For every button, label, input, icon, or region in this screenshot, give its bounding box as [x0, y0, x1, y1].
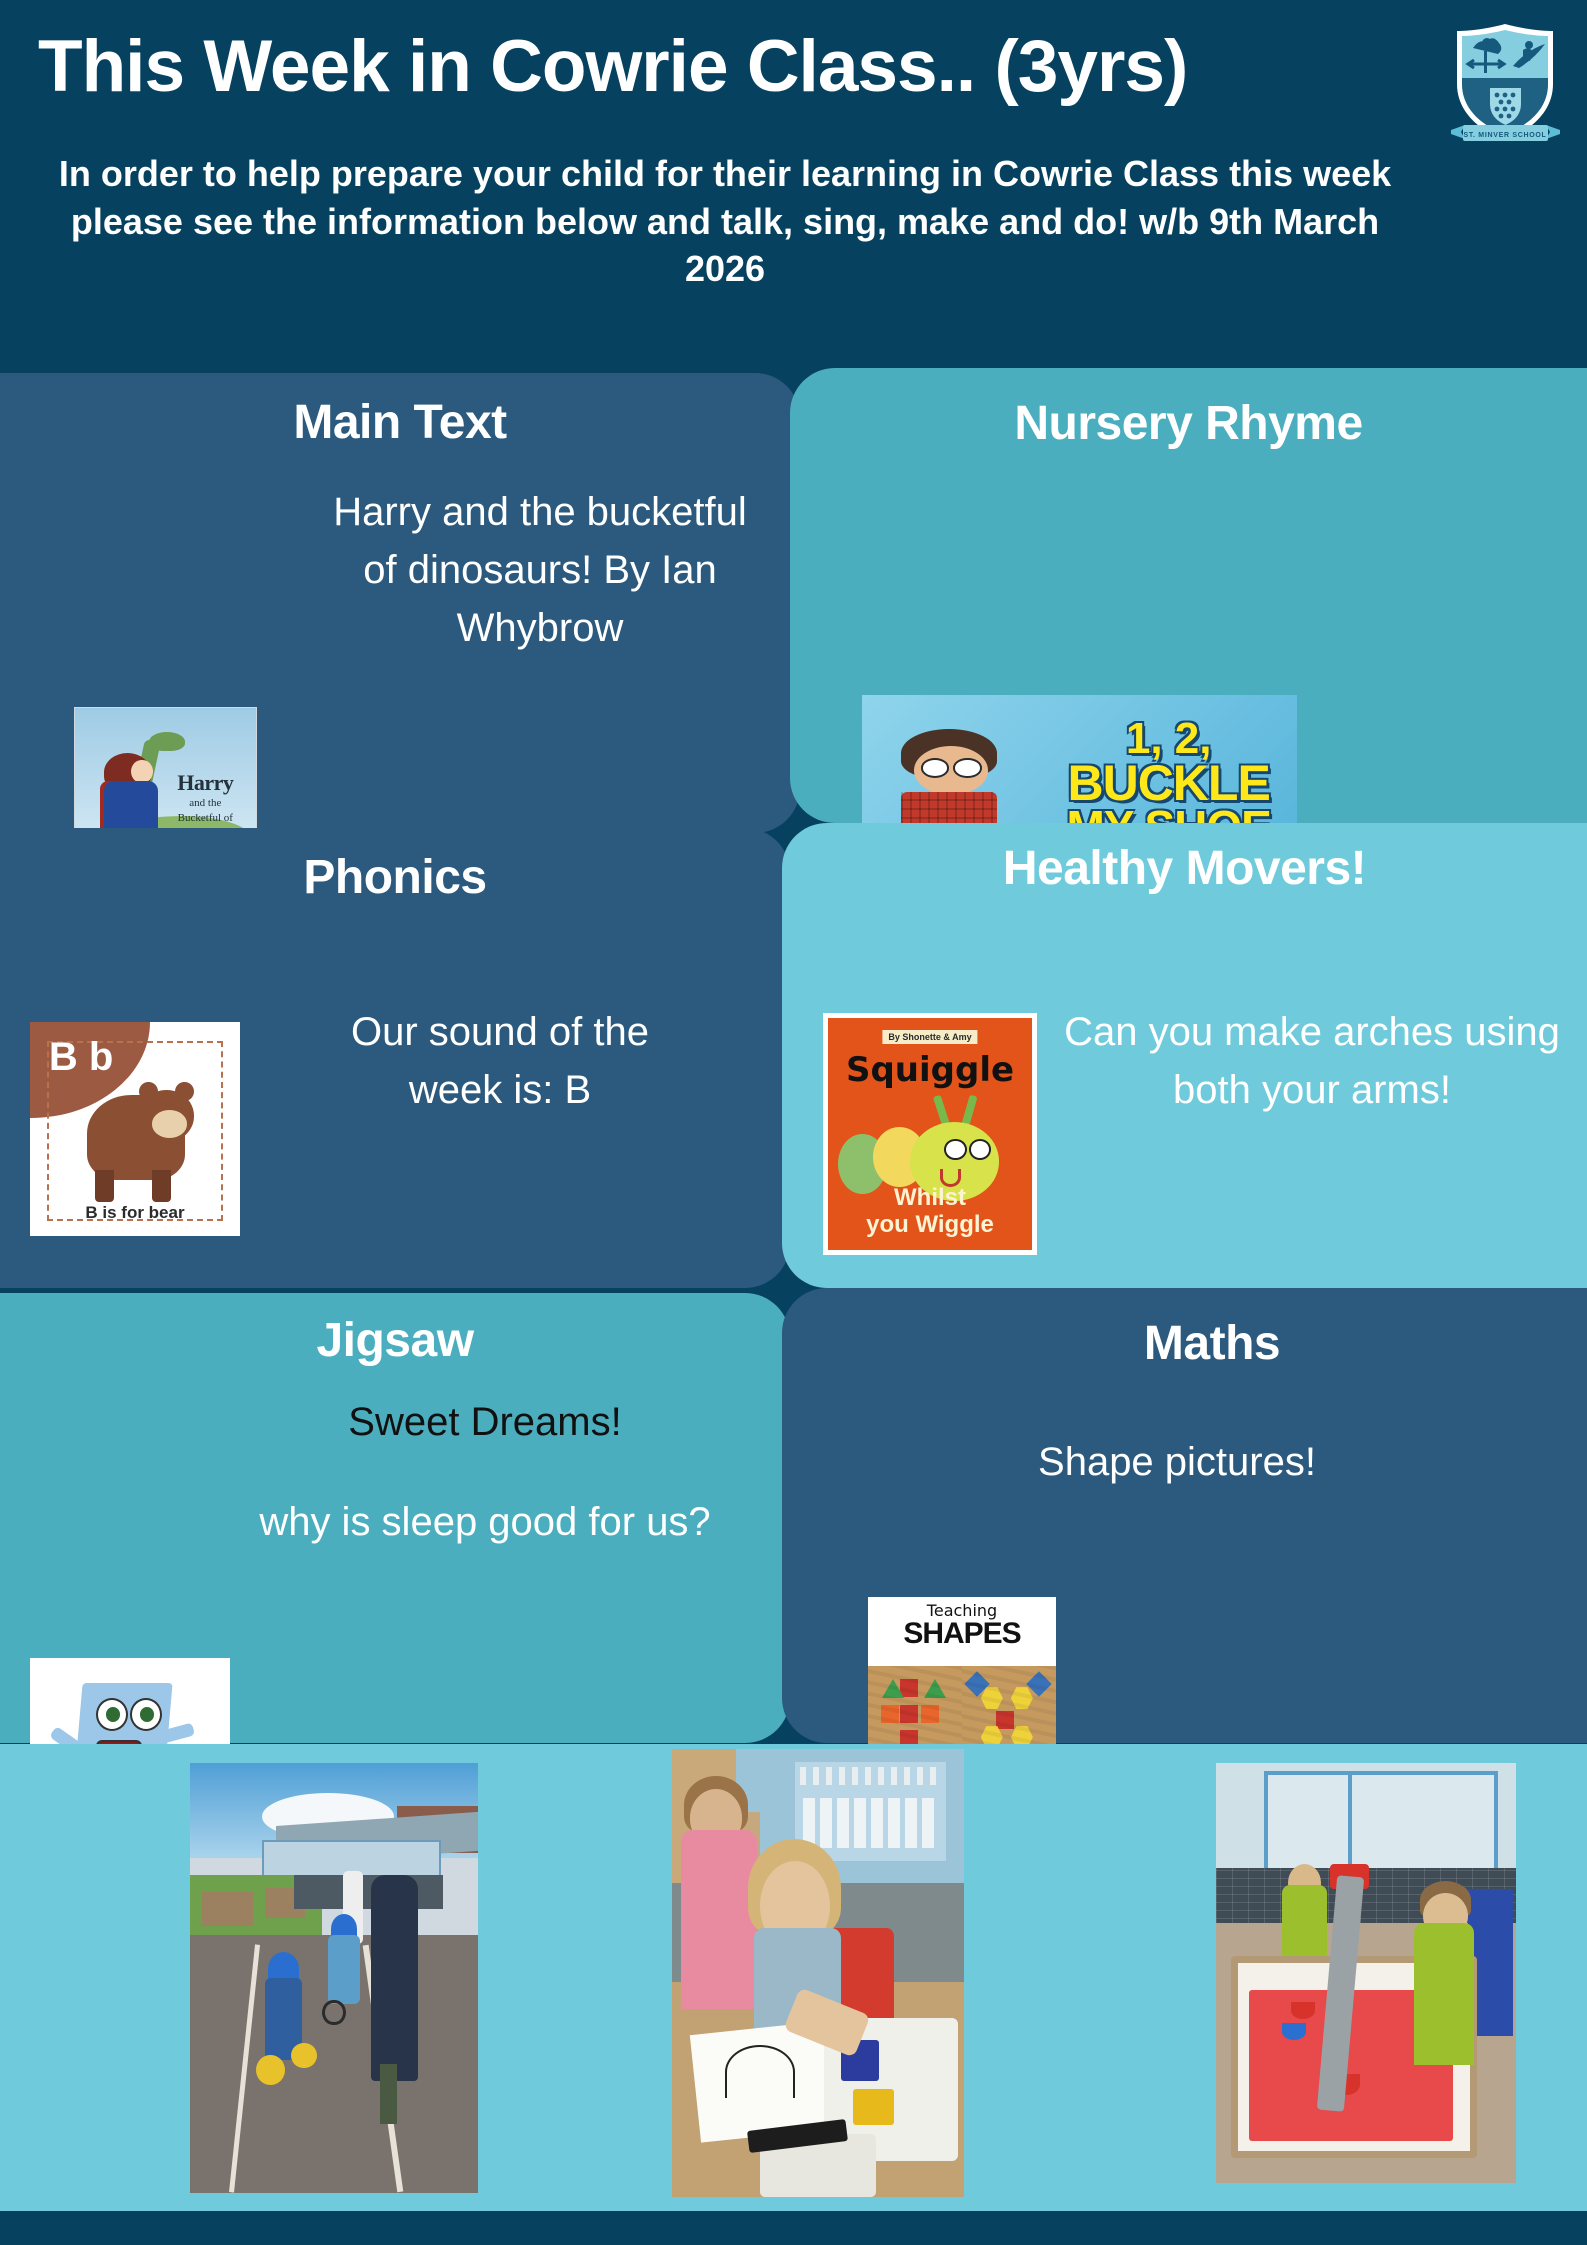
panel-body-jigsaw: why is sleep good for us?: [250, 1493, 720, 1551]
squiggle-logo: Squiggle: [846, 1050, 1014, 1090]
photo-child-painting-at-table: [672, 1749, 964, 2197]
panel-title-jigsaw: Jigsaw: [0, 1313, 790, 1368]
panel-body-jigsaw-heading: Sweet Dreams!: [270, 1393, 700, 1451]
panel-title-phonics: Phonics: [0, 850, 790, 905]
squiggle-byline: By Shonette & Amy: [882, 1030, 977, 1044]
crest-label: ST. MINVER SCHOOL: [1463, 132, 1546, 139]
shapes-title-line-2: SHAPES: [868, 1620, 1056, 1649]
panel-body-maths: Shape pictures!: [1012, 1433, 1342, 1491]
panel-title-nursery-rhyme: Nursery Rhyme: [790, 396, 1587, 451]
panel-body-healthy-movers: Can you make arches using both your arms…: [1062, 1003, 1562, 1119]
photo-children-playing-in-red-water-tray: [1216, 1763, 1516, 2183]
panel-title-main-text: Main Text: [0, 395, 800, 450]
panel-body-main-text: Harry and the bucketful of dinosaurs! By…: [330, 483, 750, 657]
book-title-line-1: Harry: [160, 770, 251, 796]
school-crest-icon: ST. MINVER SCHOOL: [1443, 18, 1568, 146]
rhyme-line-1: 1, 2,: [1045, 719, 1293, 759]
panel-title-healthy-movers: Healthy Movers!: [782, 841, 1587, 896]
photo-children-riding-balance-bikes-outdoors: [190, 1763, 478, 2193]
page-footer-bar: [0, 2211, 1587, 2245]
book-title-line-2: and the: [160, 796, 251, 811]
panel-grid: Main Text Harry and the bucketful of din…: [0, 373, 1587, 1744]
flashcard-caption: B is for bear: [30, 1203, 240, 1223]
squiggle-sub-1: Whilst: [828, 1185, 1032, 1212]
squiggle-whilst-you-wiggle-book-cover: By Shonette & Amy Squiggle Whilst you Wi…: [823, 1013, 1037, 1255]
book-title-line-3: Bucketful of: [160, 811, 251, 826]
panel-title-maths: Maths: [912, 1316, 1512, 1371]
page-title: This Week in Cowrie Class.. (3yrs): [38, 25, 1438, 108]
photo-strip: [0, 1744, 1587, 2211]
squiggle-sub-2: you Wiggle: [828, 1212, 1032, 1239]
rhyme-line-2: BUCKLE: [1045, 760, 1293, 806]
b-is-for-bear-flashcard: B b B is for bear: [30, 1022, 240, 1236]
panel-body-phonics: Our sound of the week is: B: [300, 1003, 700, 1119]
page-header: This Week in Cowrie Class.. (3yrs): [0, 0, 1587, 373]
flashcard-letter: B b: [49, 1035, 113, 1080]
page-subtitle: In order to help prepare your child for …: [30, 150, 1420, 293]
